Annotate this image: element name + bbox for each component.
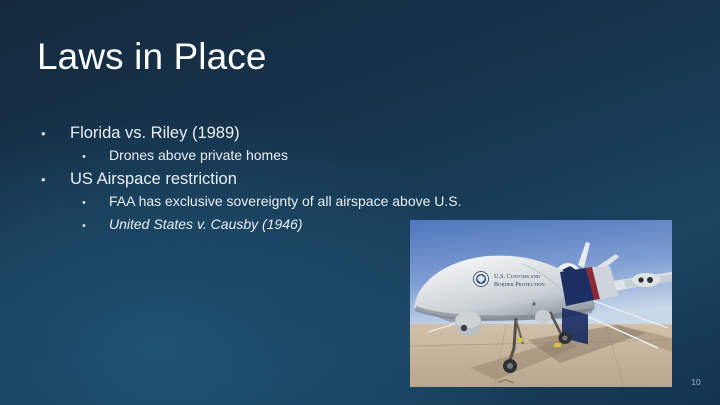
- drone-photo: U.S. CUSTOMS AND BORDER PROTECTION: [410, 220, 672, 387]
- bullet-marker-icon: •: [82, 147, 109, 168]
- page-title: Laws in Place: [37, 36, 267, 78]
- bullet-marker-icon: •: [41, 168, 70, 191]
- list-item-label: Drones above private homes: [109, 145, 288, 166]
- list-item: • United States v. Causby (1946): [0, 214, 420, 237]
- drone-photo-illustration: U.S. CUSTOMS AND BORDER PROTECTION: [410, 220, 672, 387]
- list-item-label: Florida vs. Riley (1989): [70, 122, 240, 145]
- list-item: • US Airspace restriction: [0, 168, 420, 191]
- list-item: • FAA has exclusive sovereignty of all a…: [0, 191, 420, 214]
- list-item-label: US Airspace restriction: [70, 168, 237, 191]
- fuselage-text-line1: U.S. CUSTOMS AND: [494, 273, 541, 280]
- bullet-marker-icon: •: [82, 216, 109, 237]
- slide-number: 10: [684, 377, 708, 387]
- bullet-marker-icon: •: [41, 122, 70, 145]
- list-item-label: FAA has exclusive sovereignty of all air…: [109, 191, 462, 212]
- bullet-list: • Florida vs. Riley (1989) • Drones abov…: [0, 122, 420, 237]
- bullet-marker-icon: •: [82, 193, 109, 214]
- list-item-label: United States v. Causby (1946): [109, 214, 303, 235]
- fuselage-text-line2: BORDER PROTECTION: [494, 281, 545, 288]
- list-item: • Florida vs. Riley (1989): [0, 122, 420, 145]
- list-item: • Drones above private homes: [0, 145, 420, 168]
- slide: Laws in Place • Florida vs. Riley (1989)…: [0, 0, 720, 405]
